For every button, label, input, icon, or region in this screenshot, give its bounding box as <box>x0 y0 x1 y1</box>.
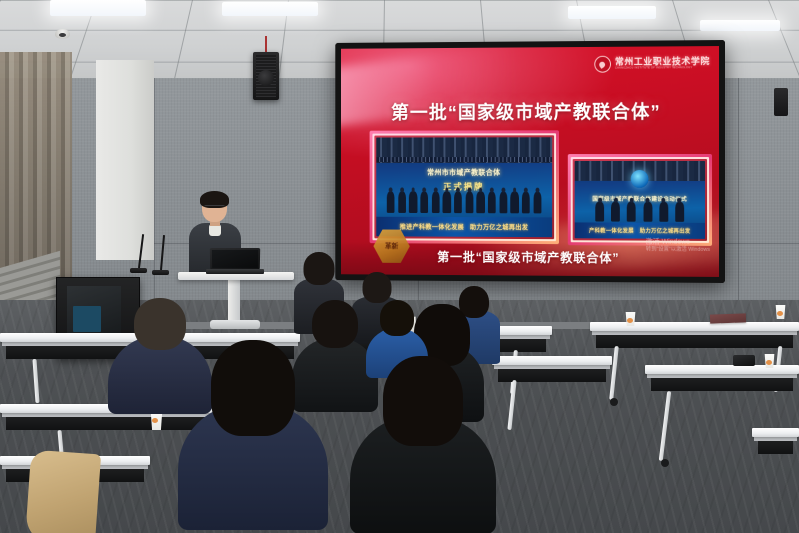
audience-head <box>380 300 414 336</box>
paper-cup <box>625 312 636 326</box>
audience-hair <box>383 356 463 446</box>
desk-top <box>752 428 799 437</box>
microphone-base <box>152 270 169 275</box>
desk-edge <box>592 331 797 335</box>
coat-on-chair <box>25 450 101 533</box>
desk-top <box>590 322 799 331</box>
chair-empty[interactable] <box>18 376 68 422</box>
conference-room-scene: 常州工业职业技术学院 CHANGZHOU INSTITUTE OF INDUST… <box>0 0 799 533</box>
desk-edge <box>754 437 797 441</box>
paper-cup <box>764 354 775 368</box>
microphone-base <box>130 268 147 273</box>
desk-modesty-panel <box>758 441 793 454</box>
wall-speaker-right-icon <box>774 88 788 116</box>
display-bezel <box>335 40 725 283</box>
wall-seam <box>154 78 155 328</box>
paper-cup <box>150 412 163 430</box>
led-wall-display[interactable]: 常州工业职业技术学院 CHANGZHOU INSTITUTE OF INDUST… <box>335 40 725 283</box>
smartphone-on-desk[interactable] <box>733 355 755 366</box>
laptop-screen <box>210 248 260 270</box>
audience-head <box>304 252 335 285</box>
presenter-laptop[interactable] <box>206 248 264 274</box>
laptop-keyboard-base <box>206 269 264 274</box>
ceiling-light-panel <box>50 0 146 16</box>
rack-equipment <box>73 306 101 332</box>
desk-caster <box>661 459 669 467</box>
desk-top <box>645 365 799 374</box>
presenter-glasses-icon <box>204 205 225 211</box>
audience-hair <box>211 340 295 436</box>
audience-head <box>363 272 392 303</box>
speaker-cone <box>258 70 274 86</box>
chair-occupied[interactable] <box>104 348 174 388</box>
wall-column <box>96 60 154 260</box>
ceiling-light-panel <box>568 6 656 19</box>
wall-seam <box>738 78 739 328</box>
ceiling-light-panel <box>222 2 318 16</box>
podium-base <box>210 320 260 329</box>
desk-top <box>492 356 612 365</box>
desk-edge <box>494 365 610 369</box>
wall-speaker-icon <box>253 52 279 100</box>
podium-column <box>228 280 240 320</box>
desk-caster <box>610 398 618 406</box>
chair-occupied[interactable] <box>168 470 338 533</box>
desk-modesty-panel <box>596 335 793 348</box>
papers-on-desk <box>710 313 746 323</box>
paper-cup <box>775 305 786 319</box>
ceiling-light-panel <box>700 20 780 31</box>
chair-empty[interactable] <box>710 380 768 472</box>
ceiling-dome-camera-icon <box>55 29 70 39</box>
desk-edge <box>647 374 797 378</box>
chair-occupied[interactable] <box>342 484 506 533</box>
